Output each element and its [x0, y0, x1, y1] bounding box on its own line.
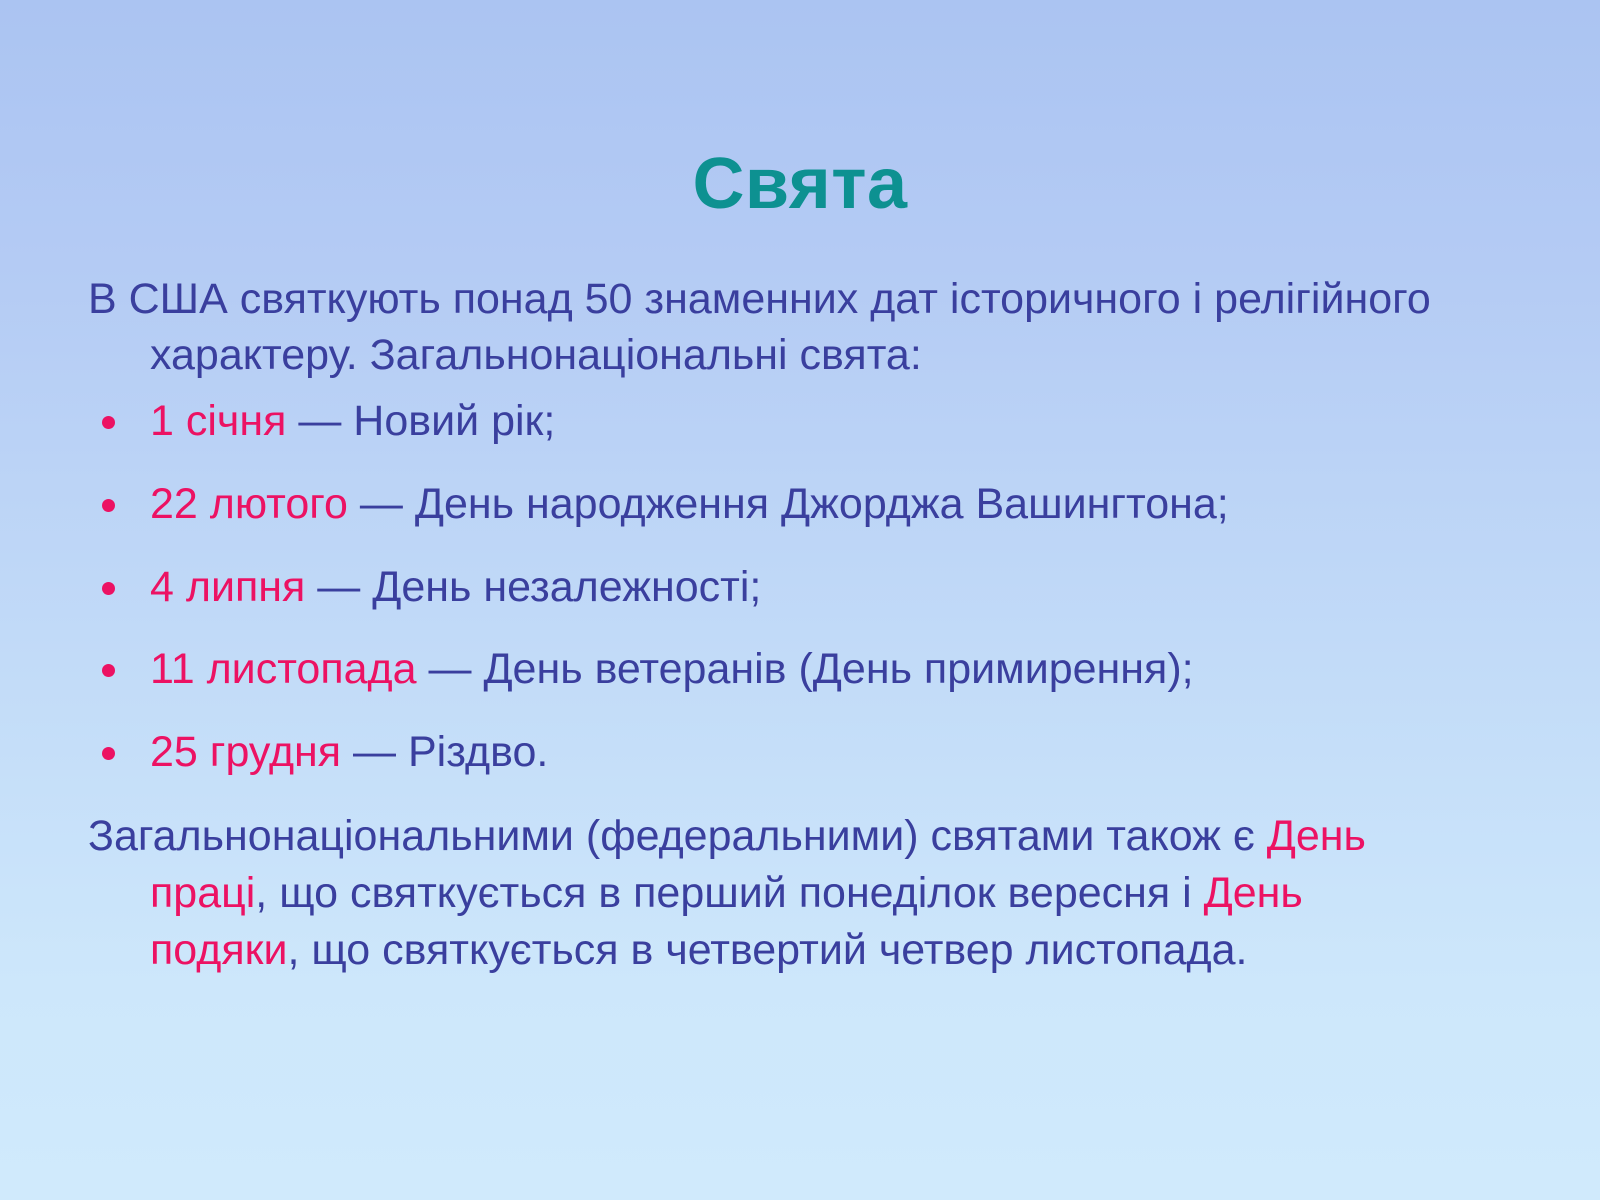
holiday-description: Різдво. [408, 728, 548, 776]
em-dash: — [317, 563, 360, 611]
em-dash: — [353, 728, 396, 776]
holiday-description: Новий рік; [353, 397, 555, 445]
em-dash: — [428, 645, 471, 693]
holiday-description: День ветеранів (День примирення); [483, 645, 1193, 693]
holiday-date: 11 листопада [150, 645, 417, 693]
holiday-date: 22 лютого [150, 480, 348, 528]
list-item: 1 січня — Новий рік; [88, 394, 1488, 450]
bullet-dot-icon [102, 747, 115, 760]
list-item: 22 лютого — День народження Джорджа Ваши… [88, 477, 1488, 533]
holiday-date: 1 січня [150, 397, 286, 445]
bullet-dot-icon [102, 416, 115, 429]
list-item: 25 грудня — Різдво. [88, 725, 1488, 781]
holidays-list: 1 січня — Новий рік; 22 лютого — День на… [88, 394, 1488, 781]
list-item: 11 листопада — День ветеранів (День прим… [88, 642, 1488, 698]
closing-text-part3: , що святкується в четвертий четвер лист… [287, 926, 1247, 974]
closing-text-part2: , що святкується в перший понеділок вере… [255, 869, 1203, 917]
slide-canvas: Свята В США святкують понад 50 знаменних… [0, 0, 1600, 1200]
holiday-description: День незалежності; [372, 563, 761, 611]
bullet-dot-icon [102, 582, 115, 595]
holiday-date: 4 липня [150, 563, 305, 611]
em-dash: — [360, 480, 403, 528]
holiday-description: День народження Джорджа Вашингтона; [415, 480, 1229, 528]
list-item: 4 липня — День незалежності; [88, 560, 1488, 616]
holiday-date: 25 грудня [150, 728, 341, 776]
bullet-dot-icon [102, 499, 115, 512]
page-title: Свята [0, 148, 1600, 220]
slide-body: В США святкують понад 50 знаменних дат і… [88, 272, 1488, 978]
em-dash: — [298, 397, 341, 445]
bullet-dot-icon [102, 664, 115, 677]
closing-paragraph: Загальнонаціональними (федеральними) свя… [88, 808, 1410, 978]
intro-paragraph: В США святкують понад 50 знаменних дат і… [88, 272, 1488, 384]
closing-text-part1: Загальнонаціональними (федеральними) свя… [88, 812, 1267, 860]
